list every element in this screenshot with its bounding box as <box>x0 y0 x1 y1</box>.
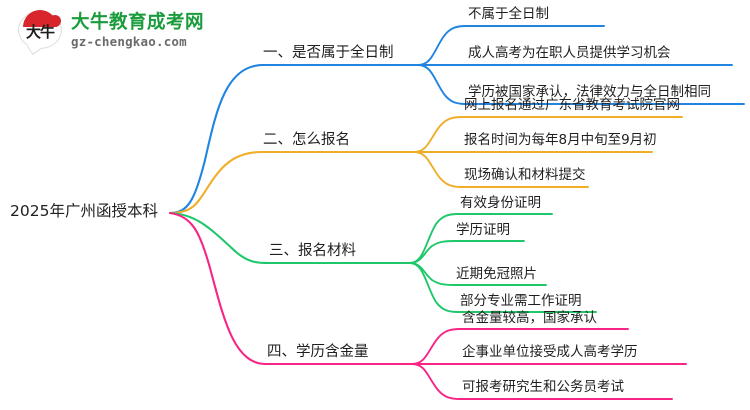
leaf-node-3-3[interactable]: 近期免冠照片 <box>456 268 537 282</box>
branch-node-4[interactable]: 四、学历含金量 <box>267 345 369 360</box>
leaf-node-2-2[interactable]: 报名时间为每年8月中旬至9月初 <box>464 134 657 148</box>
wire-root-to-branch-2 <box>170 152 414 213</box>
branch-node-3[interactable]: 三、报名材料 <box>269 244 356 259</box>
leaf-node-2-3[interactable]: 现场确认和材料提交 <box>464 169 586 183</box>
root-node[interactable]: 2025年广州函授本科 <box>10 204 158 220</box>
leaf-node-3-2[interactable]: 学历证明 <box>456 224 510 238</box>
leaf-node-3-1[interactable]: 有效身份证明 <box>460 197 541 211</box>
branch-node-2[interactable]: 二、怎么报名 <box>263 133 350 148</box>
leaf-node-4-1[interactable]: 含金量较高，国家承认 <box>462 312 597 326</box>
mindmap-canvas: 大牛 大牛教育成考网 gz-chengkao.com 2025年广州函授本科 <box>0 0 750 410</box>
leaf-node-2-1[interactable]: 网上报名通过广东省教育考试院官网 <box>464 99 680 113</box>
leaf-node-4-2[interactable]: 企事业单位接受成人高考学历 <box>462 346 638 360</box>
leaf-node-4-3[interactable]: 可报考研究生和公务员考试 <box>462 381 624 395</box>
leaf-node-1-1[interactable]: 不属于全日制 <box>468 8 549 22</box>
branch-node-1[interactable]: 一、是否属于全日制 <box>263 46 394 61</box>
wire-root-to-branch-4 <box>170 213 412 364</box>
leaf-node-1-2[interactable]: 成人高考为在职人员提供学习机会 <box>468 47 671 61</box>
leaf-node-3-4[interactable]: 部分专业需工作证明 <box>460 295 582 309</box>
